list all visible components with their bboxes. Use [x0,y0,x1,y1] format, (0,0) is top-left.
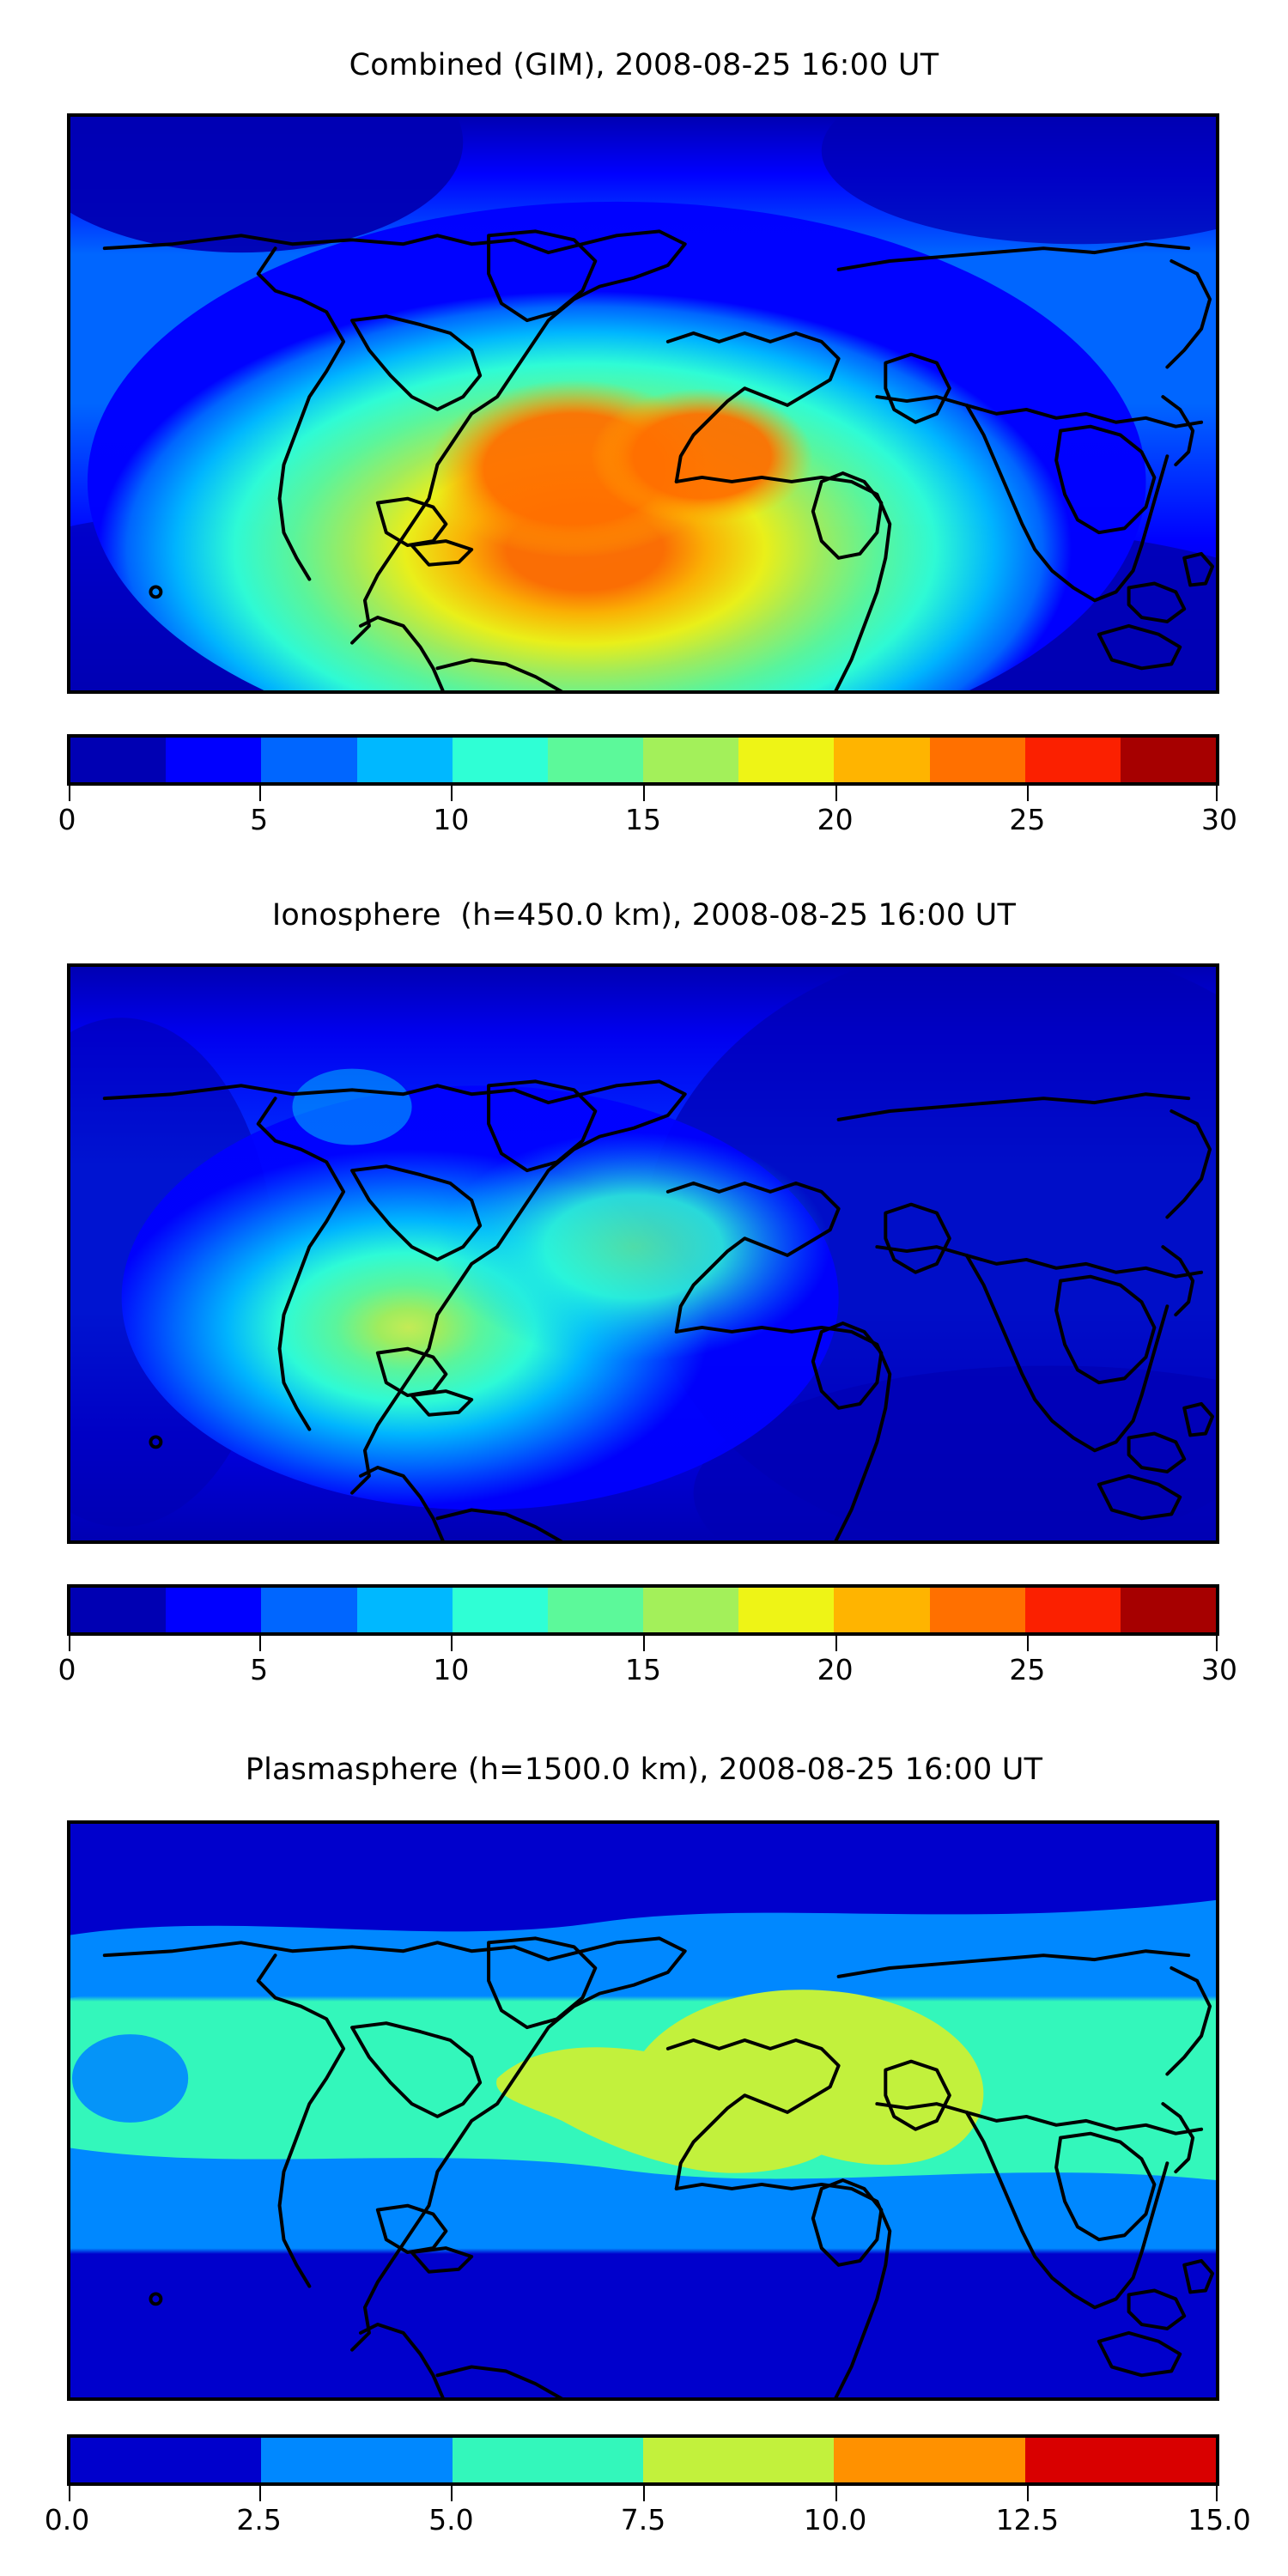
colorbar-segment-4 [834,2438,1024,2482]
colorbar-tick-4 [835,1636,837,1651]
colorbar-tick-6 [1216,786,1218,801]
colorbar-label-5: 25 [1009,801,1045,839]
colorbar-segment-11 [1121,738,1216,782]
colorbar-label-0: 0 [58,801,76,839]
colorbar-segment-1 [166,1588,261,1632]
colorbar-strip-ionosphere[interactable] [67,1584,1219,1636]
panel-title-combined: Combined (GIM), 2008-08-25 16:00 UT [0,47,1288,83]
colorbar-segment-7 [738,1588,834,1632]
colorbar-segment-9 [930,1588,1025,1632]
colorbar-segment-2 [261,1588,356,1632]
colorbar-segment-10 [1025,1588,1121,1632]
colorbar-label-0: 0.0 [45,2501,89,2539]
colorbar-tick-3 [643,2486,645,2501]
colorbar-segment-5 [548,1588,643,1632]
colorbar-tick-1 [259,1636,261,1651]
colorbar-segment-11 [1121,1588,1216,1632]
colorbar-tick-2 [451,2486,453,2501]
map-ionosphere [67,963,1219,1544]
colorbar-tick-0 [69,2486,70,2501]
colorbar-tick-0 [69,786,70,801]
colorbar-label-6: 30 [1201,801,1237,839]
colorbar-segment-2 [261,738,356,782]
colorbar-ionosphere: 051015202530 [67,1584,1219,1691]
colorbar-segment-1 [261,2438,452,2482]
panel-plasmasphere: Plasmasphere (h=1500.0 km), 2008-08-25 1… [0,1709,1288,2576]
colorbar-tick-6 [1216,2486,1218,2501]
colorbar-combined: 051015202530 [67,734,1219,841]
colorbar-label-0: 0 [58,1651,76,1689]
panel-title-ionosphere: Ionosphere (h=450.0 km), 2008-08-25 16:0… [0,897,1288,933]
colorbar-segment-2 [453,2438,643,2482]
colorbar-tick-3 [643,786,645,801]
colorbar-tick-2 [451,1636,453,1651]
colorbar-label-2: 10 [433,801,469,839]
colorbar-segment-5 [548,738,643,782]
map-plasmasphere [67,1820,1219,2401]
colorbar-segment-0 [70,1588,166,1632]
colorbar-segment-4 [453,738,548,782]
colorbar-segment-8 [834,738,929,782]
colorbar-labels-ionosphere: 051015202530 [67,1651,1219,1691]
colorbar-segment-1 [166,738,261,782]
colorbar-label-5: 12.5 [996,2501,1059,2539]
colorbar-ticks-ionosphere [67,1636,1219,1651]
colorbar-label-2: 5.0 [428,2501,473,2539]
map-canvas-ionosphere [70,967,1216,1540]
colorbar-segment-4 [453,1588,548,1632]
colorbar-segment-10 [1025,738,1121,782]
colorbar-label-3: 15 [625,1651,661,1689]
colorbar-segment-6 [643,1588,738,1632]
colorbar-tick-1 [259,786,261,801]
colorbar-tick-4 [835,2486,837,2501]
colorbar-tick-6 [1216,1636,1218,1651]
colorbar-labels-plasmasphere: 0.02.55.07.510.012.515.0 [67,2501,1219,2541]
colorbar-segment-3 [357,738,453,782]
colorbar-label-5: 25 [1009,1651,1045,1689]
colorbar-segment-8 [834,1588,929,1632]
colorbar-segment-6 [643,738,738,782]
colorbar-tick-0 [69,1636,70,1651]
colorbar-label-1: 2.5 [236,2501,281,2539]
map-combined-gim [67,113,1219,694]
colorbar-label-1: 5 [250,801,268,839]
panel-ionosphere: Ionosphere (h=450.0 km), 2008-08-25 16:0… [0,850,1288,1709]
figure-root: Combined (GIM), 2008-08-25 16:00 UT [0,0,1288,2576]
colorbar-label-3: 7.5 [621,2501,665,2539]
colorbar-label-6: 15.0 [1188,2501,1250,2539]
colorbar-segment-5 [1025,2438,1216,2482]
colorbar-segment-3 [643,2438,834,2482]
colorbar-ticks-plasmasphere [67,2486,1219,2501]
colorbar-ticks-combined [67,786,1219,801]
colorbar-segment-0 [70,2438,261,2482]
map-canvas-combined [70,117,1216,690]
colorbar-plasmasphere: 0.02.55.07.510.012.515.0 [67,2434,1219,2541]
colorbar-label-4: 20 [817,1651,854,1689]
colorbar-label-4: 10.0 [804,2501,866,2539]
colorbar-tick-5 [1027,786,1029,801]
colorbar-strip-combined[interactable] [67,734,1219,786]
colorbar-label-3: 15 [625,801,661,839]
panel-combined-gim: Combined (GIM), 2008-08-25 16:00 UT [0,0,1288,859]
colorbar-tick-4 [835,786,837,801]
colorbar-tick-3 [643,1636,645,1651]
colorbar-label-4: 20 [817,801,854,839]
colorbar-segment-9 [930,738,1025,782]
colorbar-label-6: 30 [1201,1651,1237,1689]
panel-title-plasmasphere: Plasmasphere (h=1500.0 km), 2008-08-25 1… [0,1752,1288,1788]
map-canvas-plasmasphere [70,1824,1216,2397]
colorbar-segment-0 [70,738,166,782]
colorbar-tick-5 [1027,2486,1029,2501]
colorbar-labels-combined: 051015202530 [67,801,1219,841]
colorbar-tick-1 [259,2486,261,2501]
colorbar-label-1: 5 [250,1651,268,1689]
colorbar-strip-plasmasphere[interactable] [67,2434,1219,2486]
colorbar-tick-5 [1027,1636,1029,1651]
colorbar-segment-7 [738,738,834,782]
colorbar-label-2: 10 [433,1651,469,1689]
colorbar-tick-2 [451,786,453,801]
colorbar-segment-3 [357,1588,453,1632]
